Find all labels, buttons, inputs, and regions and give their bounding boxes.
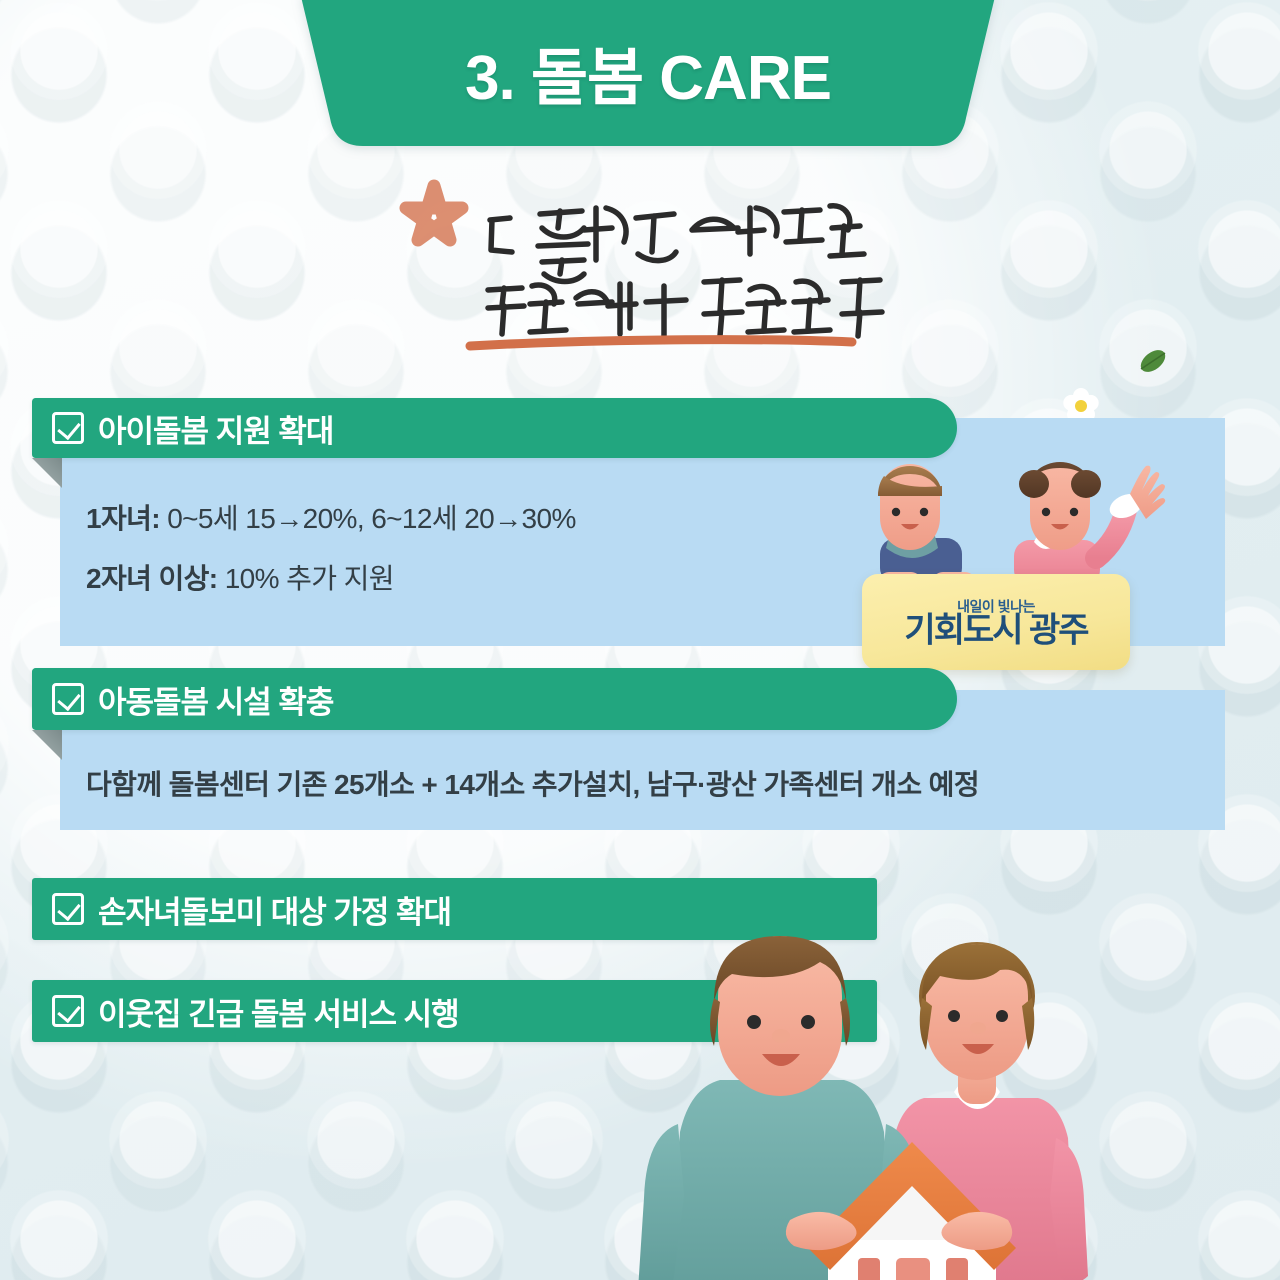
gwangju-city-sign: 내일이 빛나는 기회도시 광주	[862, 574, 1130, 670]
checkbox-checked-icon	[52, 412, 84, 444]
infographic-page: 3. 돌봄 CARE	[0, 0, 1280, 1280]
checkbox-checked-icon	[52, 995, 84, 1027]
checkbox-checked-icon	[52, 683, 84, 715]
body-value: 다함께 돌봄센터 기존 25개소 + 14개소 추가설치, 남구·광산 가족센터…	[86, 769, 979, 800]
city-sign-name: 기회도시 광주	[862, 613, 1130, 649]
section-body-line: 1자녀: 0~5세 15→20%, 6~12세 20→30%	[86, 497, 576, 537]
city-sign-logo: 내일이 빛나는 기회도시 광주	[862, 599, 1130, 648]
section-header-child-care-support[interactable]: 아이돌봄 지원 확대	[32, 398, 957, 458]
section-header-child-care-facility[interactable]: 아동돌봄 시설 확충	[32, 668, 957, 730]
body-value: 10% 추가 지원	[218, 563, 394, 594]
handwritten-slogan	[392, 178, 892, 358]
page-title: 3. 돌봄 CARE	[298, 0, 998, 152]
section-body-line: 다함께 돌봄센터 기존 25개소 + 14개소 추가설치, 남구·광산 가족센터…	[86, 763, 979, 803]
section-title: 이웃집 긴급 돌봄 서비스 시행	[98, 989, 459, 1034]
panel-fold-corner	[32, 730, 62, 760]
underline-stroke	[470, 340, 852, 346]
section-header-neighbor-emergency-care[interactable]: 이웃집 긴급 돌봄 서비스 시행	[32, 980, 877, 1042]
section-title: 아동돌봄 시설 확충	[98, 677, 333, 722]
checkbox-checked-icon	[52, 893, 84, 925]
body-value: 0~5세 15→20%, 6~12세 20→30%	[160, 503, 576, 534]
section-title: 아이돌봄 지원 확대	[98, 406, 333, 451]
star-icon	[406, 186, 462, 240]
body-label: 1자녀:	[86, 503, 160, 534]
panel-fold-corner	[32, 458, 62, 488]
body-label: 2자녀 이상:	[86, 563, 218, 594]
section-title: 손자녀돌보미 대상 가정 확대	[98, 887, 451, 932]
section-header-grandchild-carer[interactable]: 손자녀돌보미 대상 가정 확대	[32, 878, 877, 940]
section-body-line: 2자녀 이상: 10% 추가 지원	[86, 557, 394, 597]
leaf-icon	[1128, 338, 1178, 384]
